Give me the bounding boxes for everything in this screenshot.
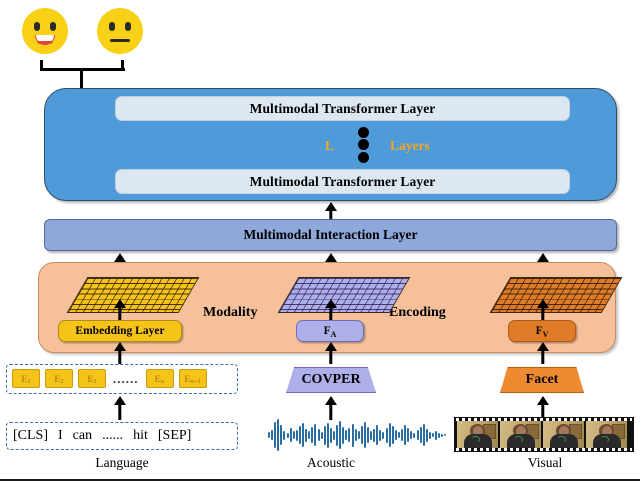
arrow-shaft: [118, 403, 121, 420]
token-subscript: n+1: [190, 378, 201, 385]
mouth-smile: [35, 35, 55, 45]
eye-right: [125, 22, 131, 31]
arrow-shaft: [118, 349, 121, 364]
smiling-face-emoji: [22, 8, 68, 54]
caption-acoustic: Acoustic: [271, 455, 391, 471]
grid-horizontal-lines: [491, 278, 621, 312]
layers-count-symbol: L: [325, 138, 334, 154]
arrow-shaft: [329, 306, 332, 321]
covper-extractor[interactable]: COVPER: [286, 367, 376, 393]
arrow-shaft: [118, 306, 121, 321]
visual-projection-label: F: [536, 325, 543, 337]
caption-visual: Visual: [485, 455, 605, 471]
visual-feature-grid: [490, 277, 623, 313]
arrow-shaft: [541, 403, 544, 418]
grid-horizontal-lines: [279, 278, 409, 312]
token-subscript: 1: [27, 378, 30, 385]
video-frame: [457, 421, 498, 448]
embedding-token: En+1: [179, 369, 207, 388]
arrow-frames-to-facet: [535, 396, 551, 418]
eye-left: [34, 22, 40, 31]
modality-label: Modality: [203, 305, 257, 321]
caption-language: Language: [62, 455, 182, 471]
transformer-layer-top-label: Multimodal Transformer Layer: [250, 101, 436, 117]
video-frame: [586, 421, 627, 448]
grid-horizontal-lines: [68, 278, 198, 312]
embedding-token: E3: [78, 369, 106, 388]
visual-projection-subscript: V: [543, 330, 549, 339]
arrow-embeddings-to-embedding-layer: [112, 342, 128, 364]
arrow-shaft: [541, 349, 544, 364]
language-feature-grid: [67, 277, 200, 313]
frame-shirt-logo: [514, 436, 523, 443]
encoding-label: Encoding: [389, 305, 446, 321]
dot: [358, 152, 369, 163]
transformer-layer-bottom-label: Multimodal Transformer Layer: [250, 174, 436, 190]
token-ellipsis: ......: [111, 371, 141, 387]
token-subscript: n: [161, 378, 165, 385]
transformer-layer-bottom: Multimodal Transformer Layer: [115, 169, 570, 194]
transformer-layer-top: Multimodal Transformer Layer: [115, 96, 570, 121]
frame-shirt-logo: [471, 436, 480, 443]
multimodal-transformer-stack: Multimodal Transformer Layer L Layers Mu…: [44, 88, 617, 201]
embedding-layer-label: Embedding Layer: [75, 325, 164, 337]
sentence-token-hit: hit: [128, 428, 153, 444]
video-frame: [543, 421, 584, 448]
video-frame: [500, 421, 541, 448]
visual-projection-box[interactable]: FV: [508, 320, 576, 342]
interaction-layer-label: Multimodal Interaction Layer: [244, 227, 418, 243]
facet-label: Facet: [526, 372, 559, 388]
arrow-shaft: [541, 306, 544, 321]
acoustic-projection-box[interactable]: FA: [296, 320, 364, 342]
frame-shirt-logo: [600, 436, 609, 443]
eye-right: [50, 22, 56, 31]
embedding-layer-box[interactable]: Embedding Layer: [58, 320, 182, 342]
arrow-waveform-to-covper: [323, 396, 339, 420]
facet-extractor[interactable]: Facet: [500, 367, 584, 393]
arrow-fa-to-acoustic-feature: [323, 299, 339, 321]
visual-film-strip: [454, 417, 634, 452]
embedding-token: E2: [45, 369, 73, 388]
acoustic-waveform: [268, 418, 446, 452]
arrow-covper-to-fa: [323, 342, 339, 364]
arrow-fv-to-visual-feature: [535, 299, 551, 321]
eye-left: [109, 22, 115, 31]
mouth-flat: [110, 39, 130, 42]
neutral-face-emoji: [97, 8, 143, 54]
acoustic-projection-subscript: A: [331, 330, 337, 339]
token-subscript: 2: [60, 378, 63, 385]
covper-label: COVPER: [301, 372, 360, 388]
sentence-token-ellipsis: ......: [97, 428, 128, 444]
diagram-canvas: Multimodal Transformer Layer L Layers Mu…: [0, 0, 640, 481]
embedding-token: En: [146, 369, 174, 388]
multimodal-interaction-layer: Multimodal Interaction Layer: [44, 219, 617, 251]
dot: [358, 127, 369, 138]
embedding-token: E1: [12, 369, 40, 388]
acoustic-feature-grid: [278, 277, 411, 313]
arrow-sentence-to-embeddings: [112, 396, 128, 420]
bracket-stem: [80, 68, 83, 90]
sentence-token-sep: [SEP]: [153, 428, 196, 444]
bracket-right-tick: [121, 60, 124, 71]
arrow-interaction-to-transformer: [323, 202, 339, 220]
sentence-token-i: I: [53, 428, 68, 444]
arrow-embedding-to-language-feature: [112, 299, 128, 321]
sentence-tokens: [CLS] I can ...... hit [SEP]: [8, 425, 196, 447]
sentence-token-cls: [CLS]: [8, 428, 53, 444]
sentence-token-can: can: [68, 428, 97, 444]
layers-word-label: Layers: [390, 138, 430, 154]
embedding-token-row: E1 E2 E3 ...... En En+1: [12, 369, 207, 388]
layers-repeat-indicator: L Layers: [115, 125, 570, 167]
frame-shirt-logo: [557, 436, 566, 443]
dot: [358, 139, 369, 150]
token-subscript: 3: [93, 378, 96, 385]
arrow-shaft: [329, 349, 332, 364]
acoustic-projection-label: F: [324, 325, 331, 337]
vertical-ellipsis-dots: [357, 125, 371, 167]
arrow-facet-to-fv: [535, 342, 551, 364]
